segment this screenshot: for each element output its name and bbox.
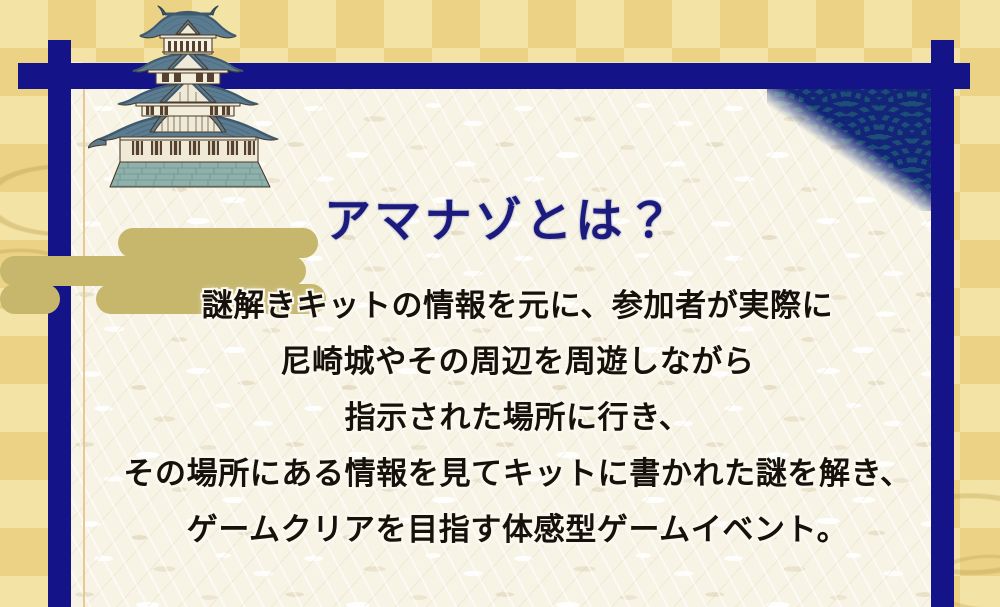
description-line: 謎解きキットの情報を元に、参加者が実際に (95, 278, 940, 334)
description-line: その場所にある情報を見てキットに書かれた謎を解き、 (95, 446, 940, 502)
amanazo-about-banner: アマナゾとは？ 謎解きキットの情報を元に、参加者が実際に 尼崎城やその周辺を周遊… (0, 0, 1000, 607)
cloud-band (0, 284, 60, 314)
description-line: 指示された場所に行き、 (95, 390, 940, 446)
description-text: 謎解きキットの情報を元に、参加者が実際に 尼崎城やその周辺を周遊しながら 指示さ… (95, 278, 940, 558)
page-title: アマナゾとは？ (0, 182, 1000, 251)
frame-bar-vertical-left (48, 40, 71, 607)
description-line: 尼崎城やその周辺を周遊しながら (95, 334, 940, 390)
description-line: ゲームクリアを目指す体感型ゲームイベント。 (95, 502, 940, 558)
